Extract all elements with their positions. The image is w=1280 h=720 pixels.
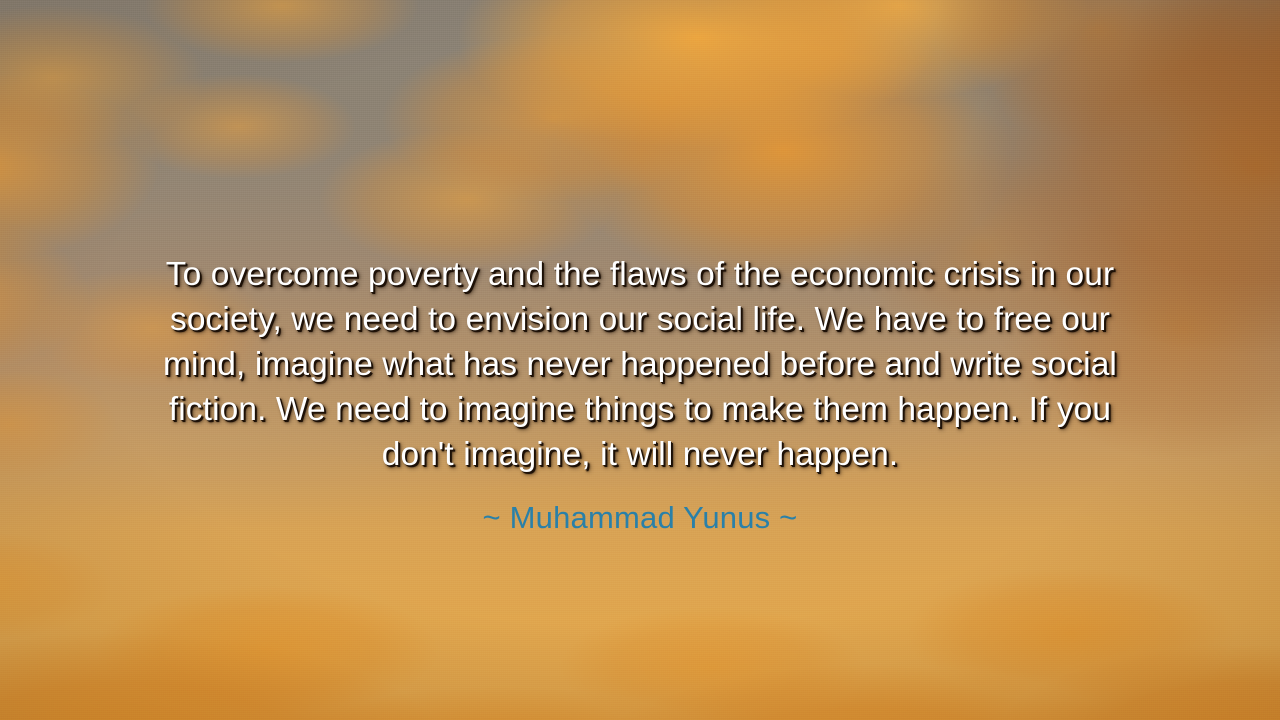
quote-block: To overcome poverty and the flaws of the… — [0, 252, 1280, 477]
quote-text: To overcome poverty and the flaws of the… — [120, 252, 1160, 477]
quote-card: To overcome poverty and the flaws of the… — [0, 0, 1280, 720]
attribution-text: ~ Muhammad Yunus ~ — [0, 498, 1280, 538]
